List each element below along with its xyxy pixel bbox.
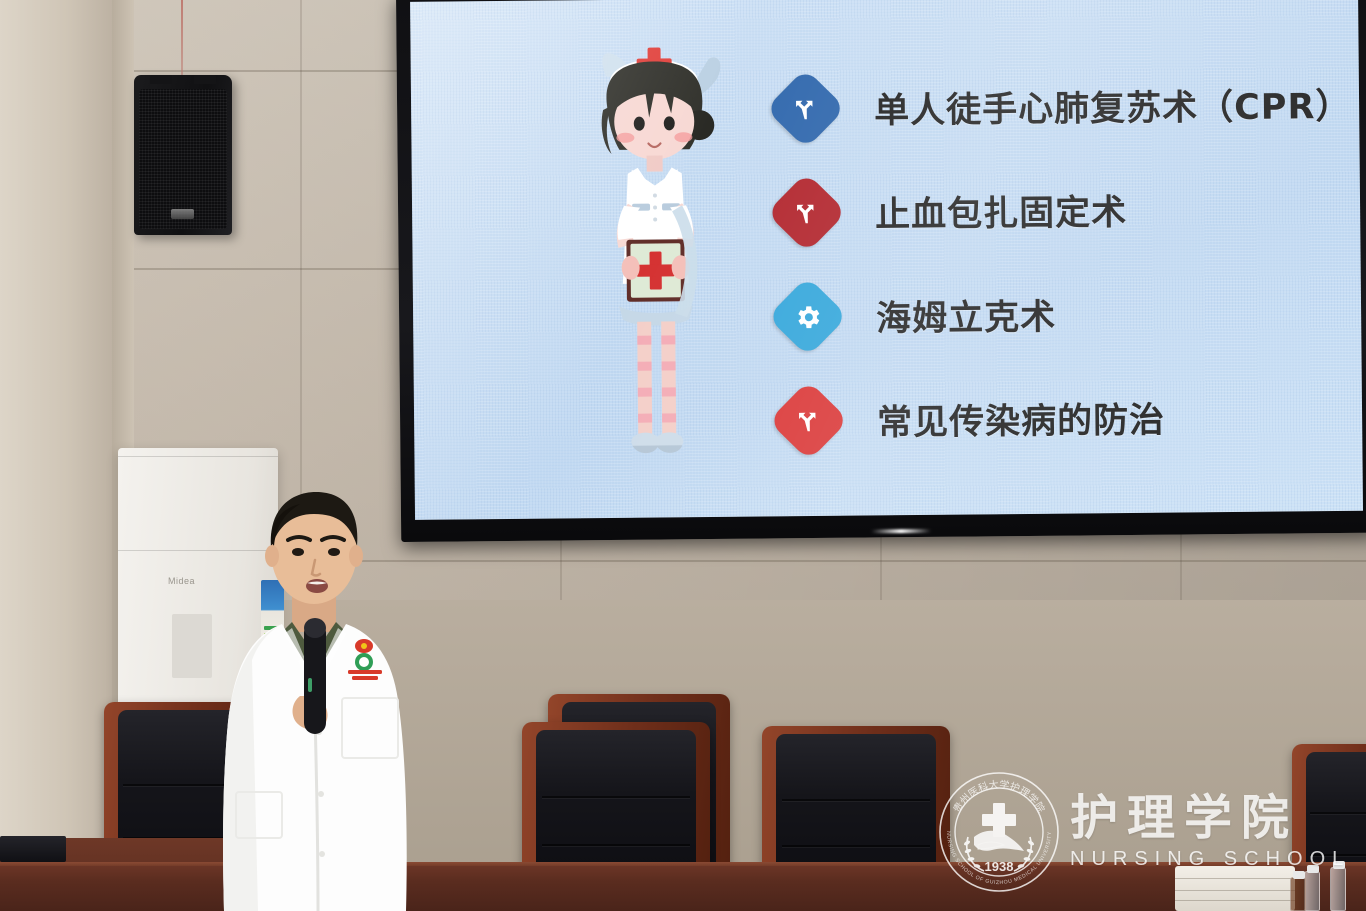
stacked-towels <box>1175 866 1295 911</box>
cartoon-nurse-illustration <box>558 17 752 479</box>
table-object <box>0 836 66 862</box>
bullet-label: 海姆立克术 <box>876 288 1056 341</box>
bullet-label: 常见传染病的防治 <box>877 391 1165 445</box>
fork-arrows-icon <box>766 172 847 253</box>
bullet-label: 止血包扎固定术 <box>875 183 1127 236</box>
fork-arrows-icon <box>768 380 849 461</box>
lecture-photo-scene: 单人徒手心肺复苏术（CPR） 止血包扎固定术 <box>0 0 1366 911</box>
wall-pilaster <box>0 0 112 911</box>
ac-brand-label: Midea <box>168 576 195 586</box>
bullet-label: 单人徒手心肺复苏术（CPR） <box>874 77 1352 133</box>
slide-surface: 单人徒手心肺复苏术（CPR） 止血包扎固定术 <box>410 0 1363 520</box>
speaker-grille-icon <box>139 89 227 229</box>
list-item: 单人徒手心肺复苏术（CPR） <box>777 51 1358 161</box>
speaker-wire <box>181 0 183 78</box>
list-item: 止血包扎固定术 <box>778 155 1359 265</box>
water-bottle <box>1290 877 1306 911</box>
led-display-screen: 单人徒手心肺复苏术（CPR） 止血包扎固定术 <box>396 0 1366 542</box>
water-bottle <box>1330 867 1346 911</box>
fork-arrows-icon <box>765 68 846 149</box>
speaker-brand-badge <box>171 209 194 219</box>
slide-bullet-list: 单人徒手心肺复苏术（CPR） 止血包扎固定术 <box>777 51 1361 473</box>
list-item: 常见传染病的防治 <box>780 363 1361 473</box>
wall-speaker <box>134 75 232 235</box>
water-bottle <box>1304 871 1320 911</box>
gear-icon <box>767 276 848 357</box>
presenter-figure <box>196 482 426 911</box>
list-item: 海姆立克术 <box>779 259 1360 369</box>
